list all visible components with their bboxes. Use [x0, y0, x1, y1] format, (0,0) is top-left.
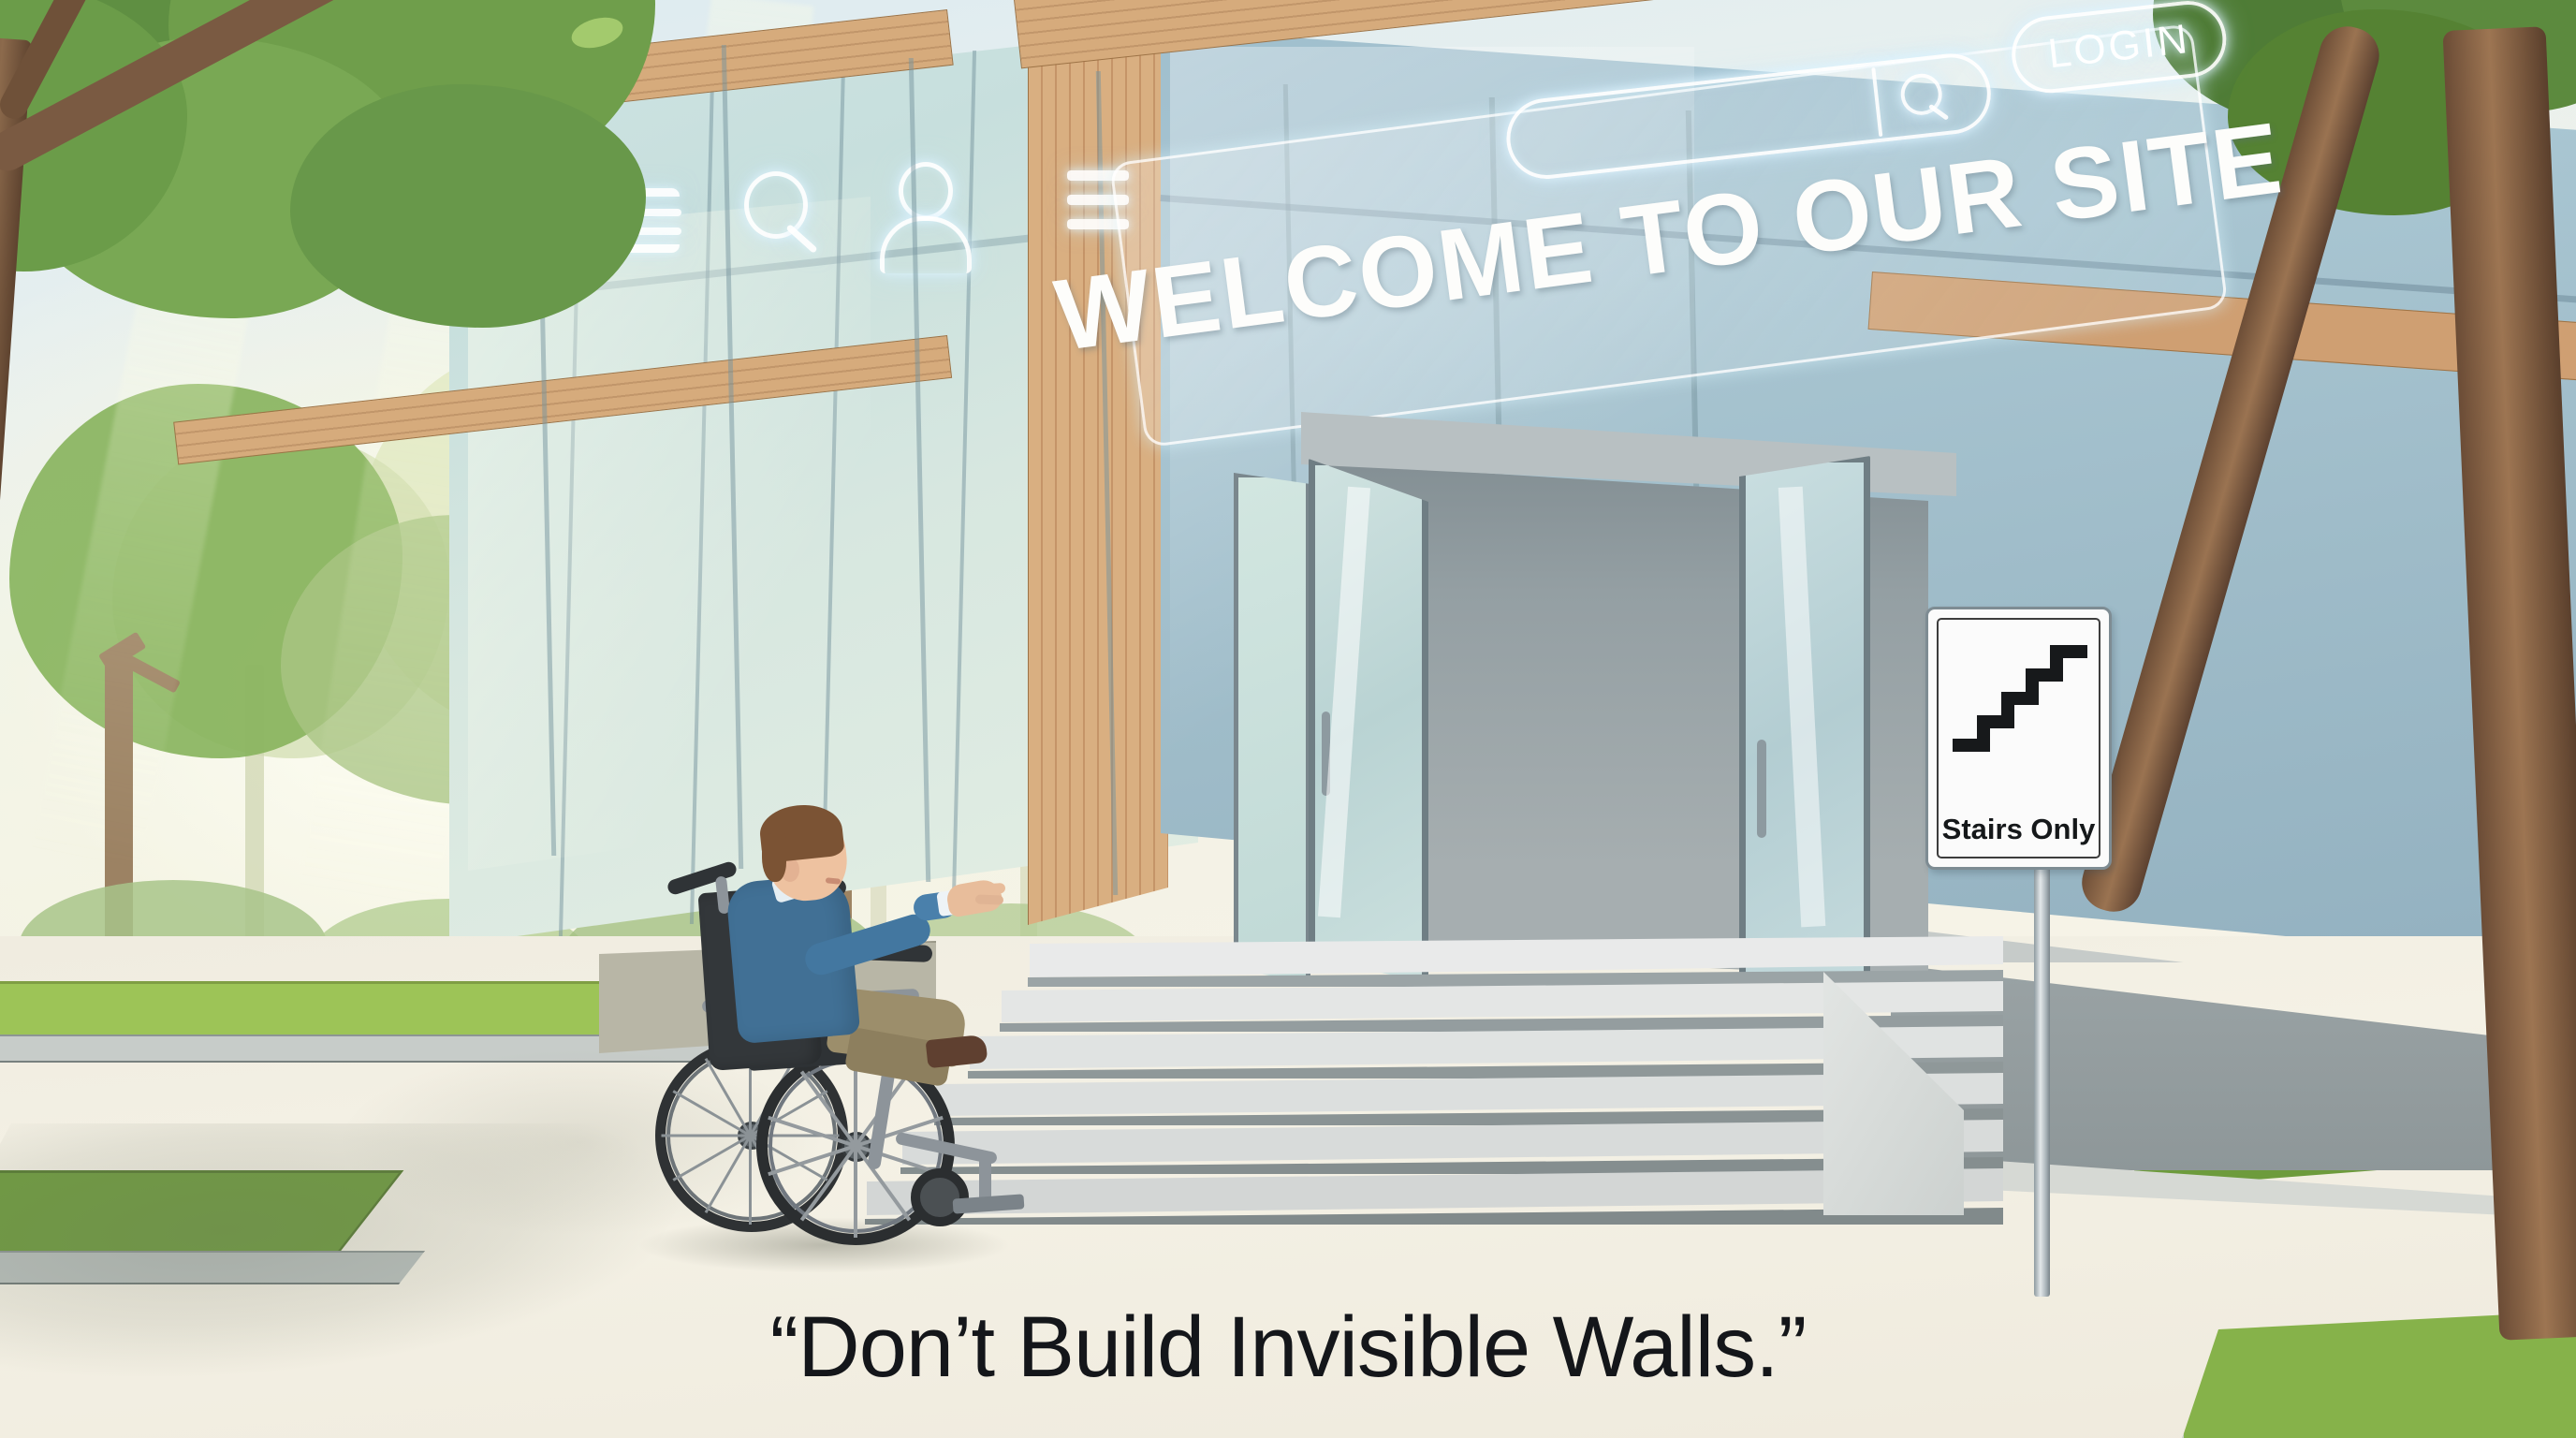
search-icon[interactable]	[1898, 70, 1958, 128]
man-in-wheelchair	[646, 824, 1048, 1273]
staircase-icon	[1953, 636, 2084, 757]
illustration-canvas: LOGIN WELCOME TO OUR SITE	[0, 0, 2576, 1438]
user-account-icon[interactable]	[880, 162, 966, 265]
stairs-only-label: Stairs Only	[1928, 813, 2109, 846]
stairs-only-sign: Stairs Only	[1925, 607, 2112, 870]
wheelchair-footplate	[953, 1194, 1025, 1213]
caption-text: “Don’t Build Invisible Walls.”	[0, 1299, 2576, 1397]
sign-post	[2034, 847, 2050, 1297]
tree-trunk	[2443, 26, 2576, 1340]
shoe	[926, 1034, 988, 1069]
door-handle-right[interactable]	[1757, 740, 1766, 838]
entrance-sidelight	[1234, 473, 1310, 983]
search-icon[interactable]	[744, 171, 834, 265]
foreground-tree-left	[0, 0, 711, 768]
